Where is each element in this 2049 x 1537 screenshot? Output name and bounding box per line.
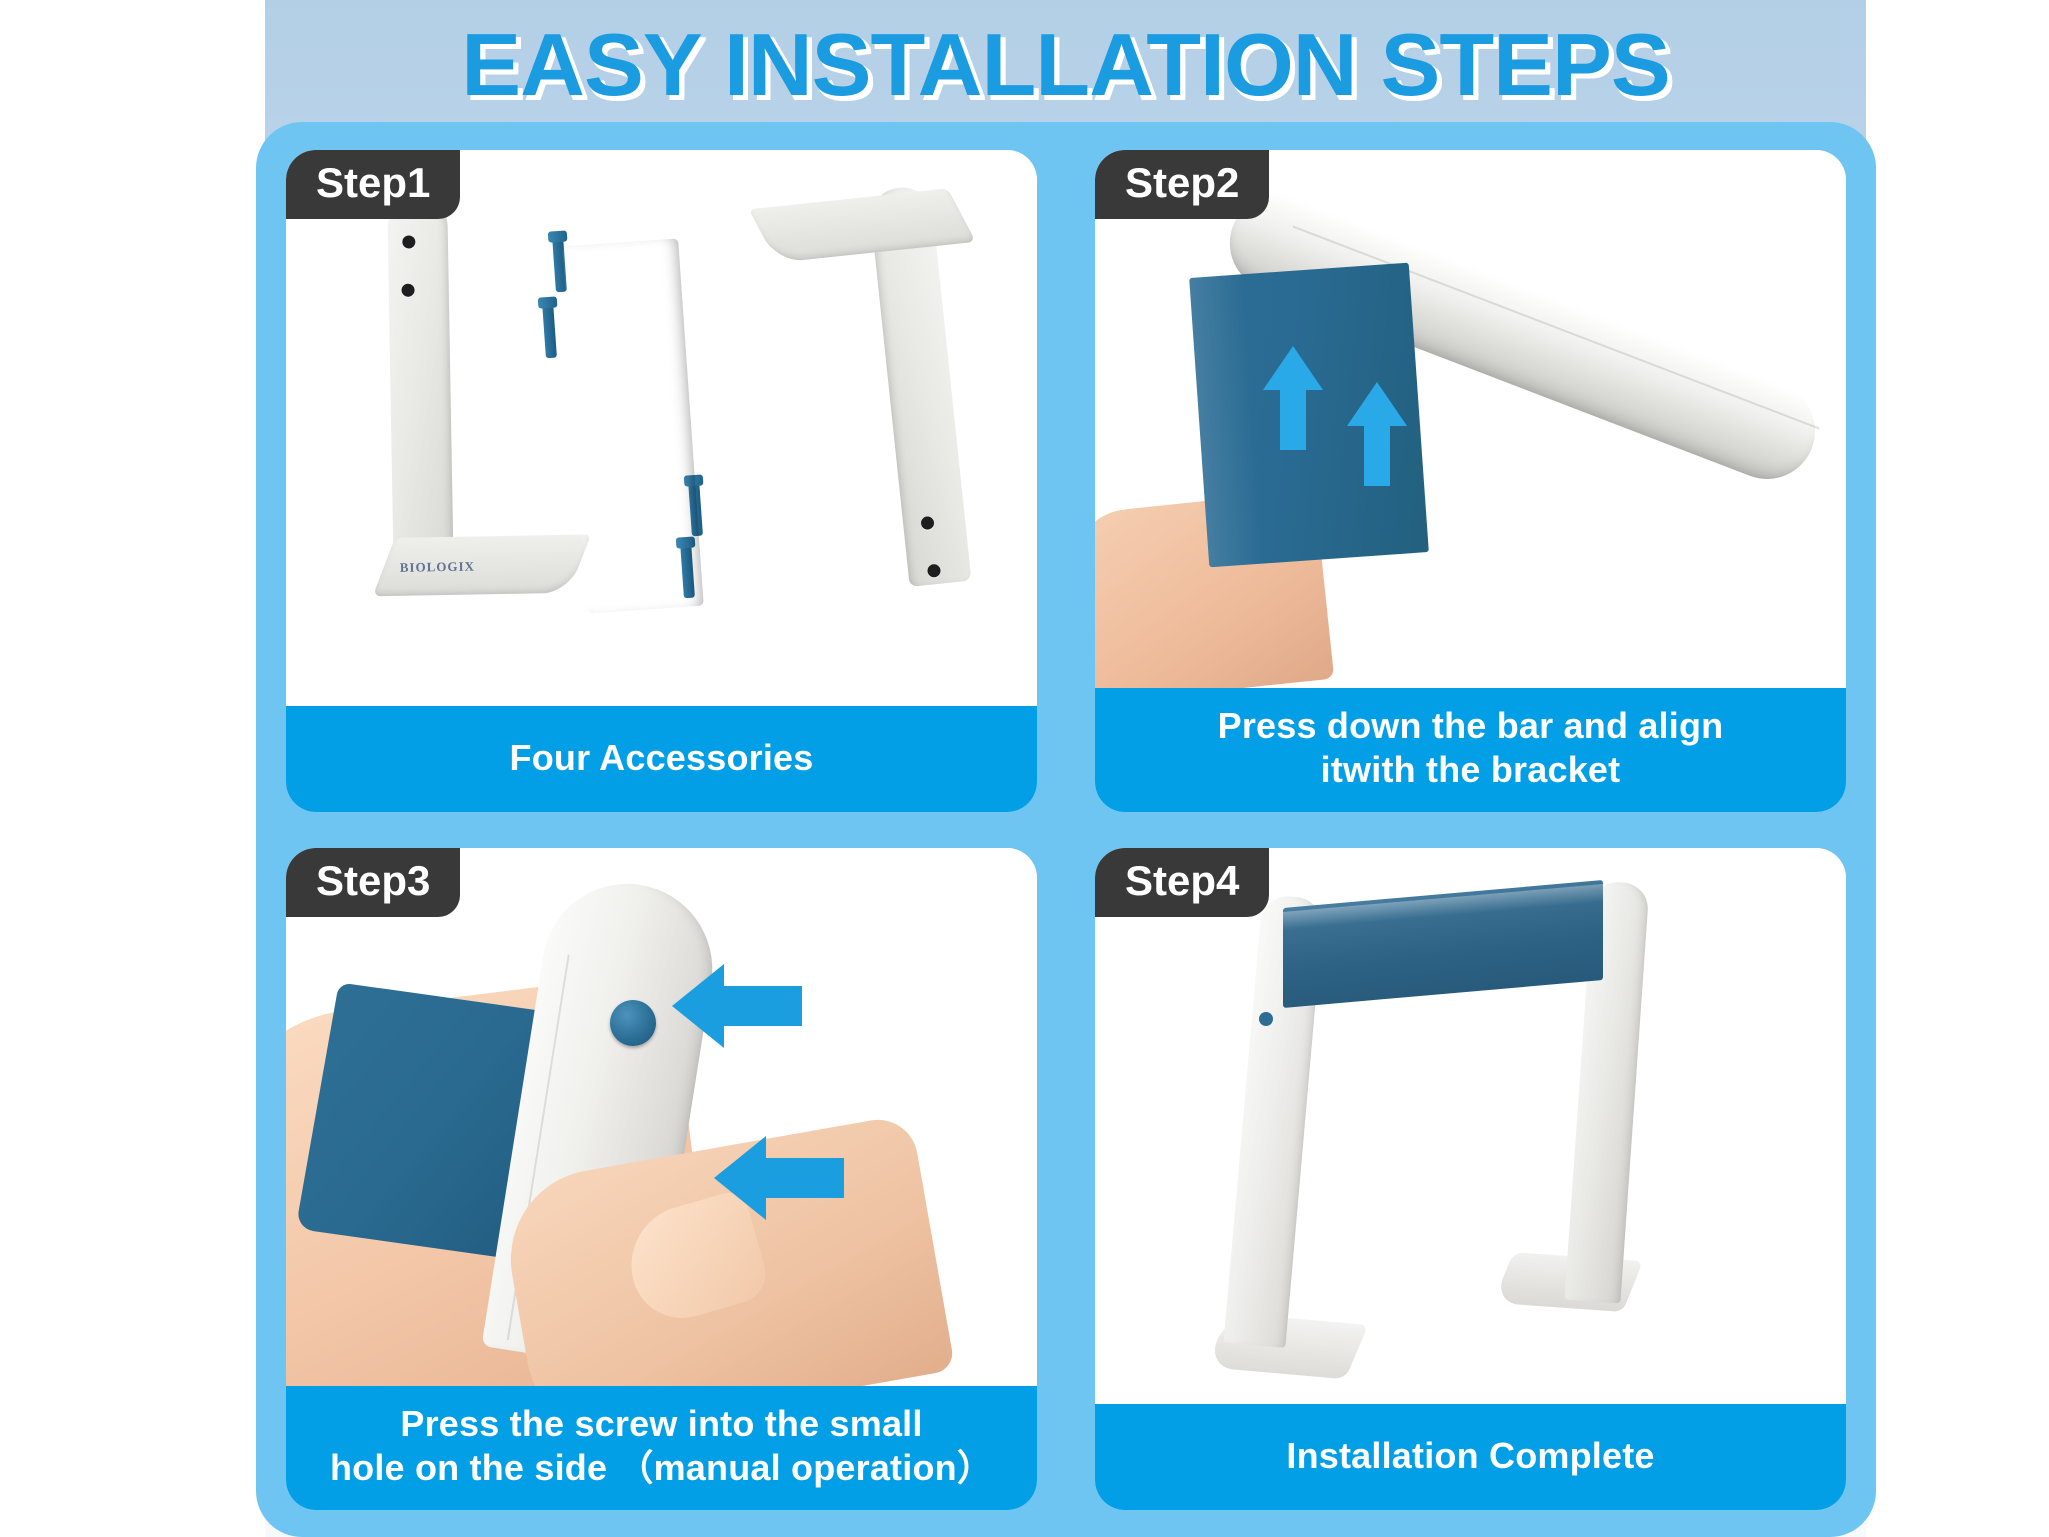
step3-caption: Press the screw into the small hole on t… [286, 1386, 1037, 1510]
step1-badge: Step1 [286, 150, 460, 219]
step2-caption-line-2: itwith the bracket [1113, 748, 1828, 792]
step-card-1[interactable]: Step1 BIOLOGIX [286, 150, 1037, 812]
brand-logo: BIOLOGIX [400, 559, 475, 576]
step3-badge: Step3 [286, 848, 460, 917]
step1-caption-line-1: Four Accessories [304, 736, 1019, 780]
white-right-leg-part [730, 184, 988, 636]
installation-poster: EASY INSTALLATION STEPS Step1 BIOLOGIX [265, 0, 1866, 1537]
step4-caption: Installation Complete [1095, 1404, 1846, 1510]
blue-crossbar-part [1283, 880, 1603, 1008]
step3-photo: Step3 [286, 848, 1037, 1386]
screw-hole-icon [1259, 1012, 1273, 1026]
step3-caption-line-2: hole on the side （manual operation） [304, 1446, 1019, 1490]
step4-badge: Step4 [1095, 848, 1269, 917]
step-card-2[interactable]: Step2 Press down the bar and align itwit… [1095, 150, 1846, 812]
step2-caption: Press down the bar and align itwith the … [1095, 688, 1846, 812]
steps-frame: Step1 BIOLOGIX [256, 122, 1876, 1537]
steps-grid: Step1 BIOLOGIX [286, 150, 1846, 1510]
step2-caption-line-1: Press down the bar and align [1113, 704, 1828, 748]
step-card-4[interactable]: Step4 Installation Complete [1095, 848, 1846, 1510]
blue-screw-knob [610, 1000, 656, 1046]
step4-photo: Step4 [1095, 848, 1846, 1404]
step2-photo: Step2 [1095, 150, 1846, 688]
step4-caption-line-1: Installation Complete [1113, 1434, 1828, 1478]
step3-caption-line-1: Press the screw into the small [304, 1402, 1019, 1446]
assembled-stand [1095, 848, 1846, 1404]
step-card-3[interactable]: Step3 Press the screw int [286, 848, 1037, 1510]
step1-photo: Step1 BIOLOGIX [286, 150, 1037, 706]
step2-badge: Step2 [1095, 150, 1269, 219]
page-title: EASY INSTALLATION STEPS [249, 14, 1882, 116]
blue-crossbar-part [562, 238, 703, 613]
step1-caption: Four Accessories [286, 706, 1037, 812]
